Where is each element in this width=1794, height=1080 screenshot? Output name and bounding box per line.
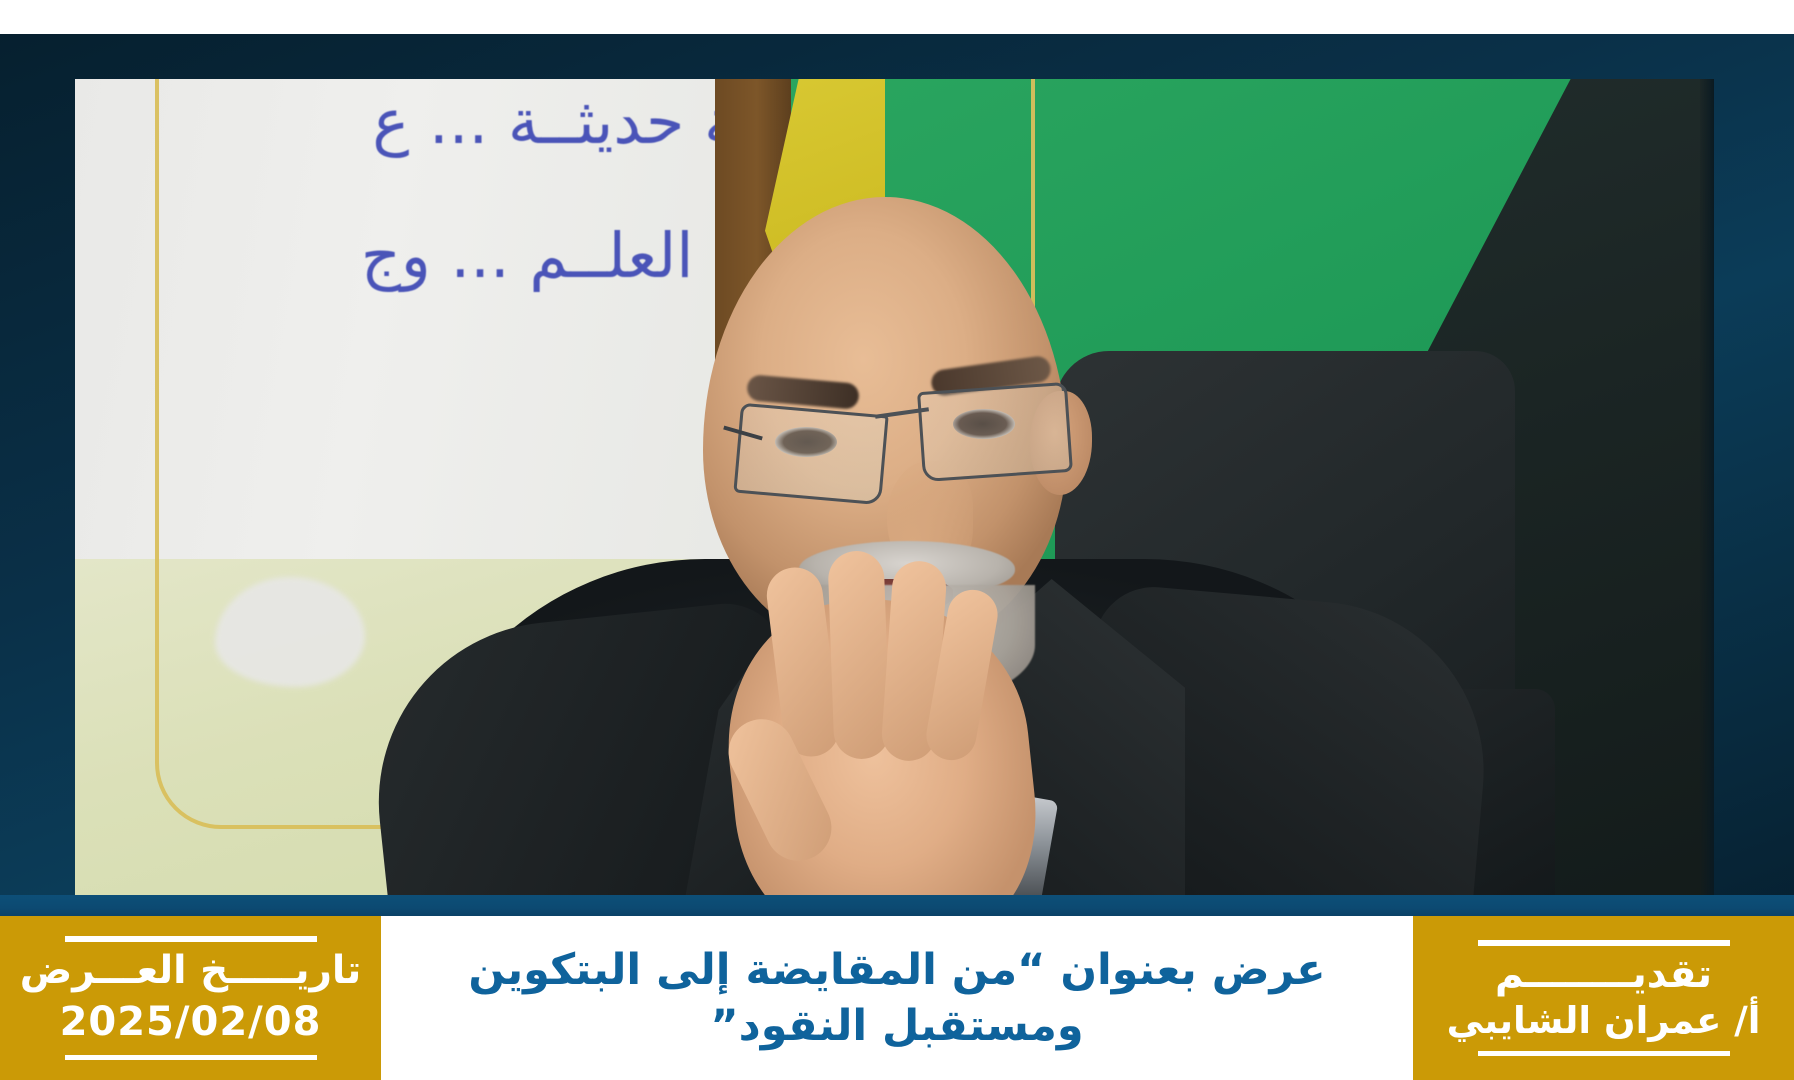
- presenter-panel-rule-bottom: [1478, 1051, 1730, 1056]
- finger-middle: [827, 550, 890, 760]
- date-panel: تاريـــــخ العـــرض 2025/02/08: [0, 916, 381, 1080]
- top-white-margin: [0, 0, 1794, 34]
- photo-content: دولــة حديثــة ... ع أداتها العلــم ... …: [75, 79, 1714, 895]
- bottom-info-bar: تاريـــــخ العـــرض 2025/02/08 عرض بعنوا…: [0, 916, 1794, 1080]
- glasses-lens-left: [733, 403, 888, 506]
- date-panel-heading: تاريـــــخ العـــرض: [20, 951, 361, 992]
- date-panel-rule-bottom: [65, 1055, 317, 1060]
- presenter-photo: دولــة حديثــة ... ع أداتها العلــم ... …: [75, 79, 1714, 895]
- presenter-panel-rule-top: [1478, 940, 1730, 946]
- title-line-1: عرض بعنوان “من المقايضة إلى البتكوين: [468, 944, 1325, 996]
- accent-blue-strip: [0, 895, 1794, 916]
- presenter-panel-heading: تقديــــــــم: [1495, 955, 1712, 996]
- presenter-panel: تقديــــــــم أ/ عمران الشايبي: [1413, 916, 1794, 1080]
- presentation-date: 2025/02/08: [60, 1001, 322, 1043]
- presentation-title: عرض بعنوان “من المقايضة إلى البتكوين ومس…: [381, 916, 1413, 1080]
- photo-right-edge-shadow: [1700, 79, 1714, 895]
- glasses-lens-right: [917, 382, 1073, 482]
- presenter-name: أ/ عمران الشايبي: [1447, 1002, 1761, 1041]
- slide-canvas: دولــة حديثــة ... ع أداتها العلــم ... …: [0, 0, 1794, 1080]
- title-line-2: ومستقبل النقود”: [710, 1000, 1083, 1052]
- date-panel-rule-top: [65, 936, 317, 942]
